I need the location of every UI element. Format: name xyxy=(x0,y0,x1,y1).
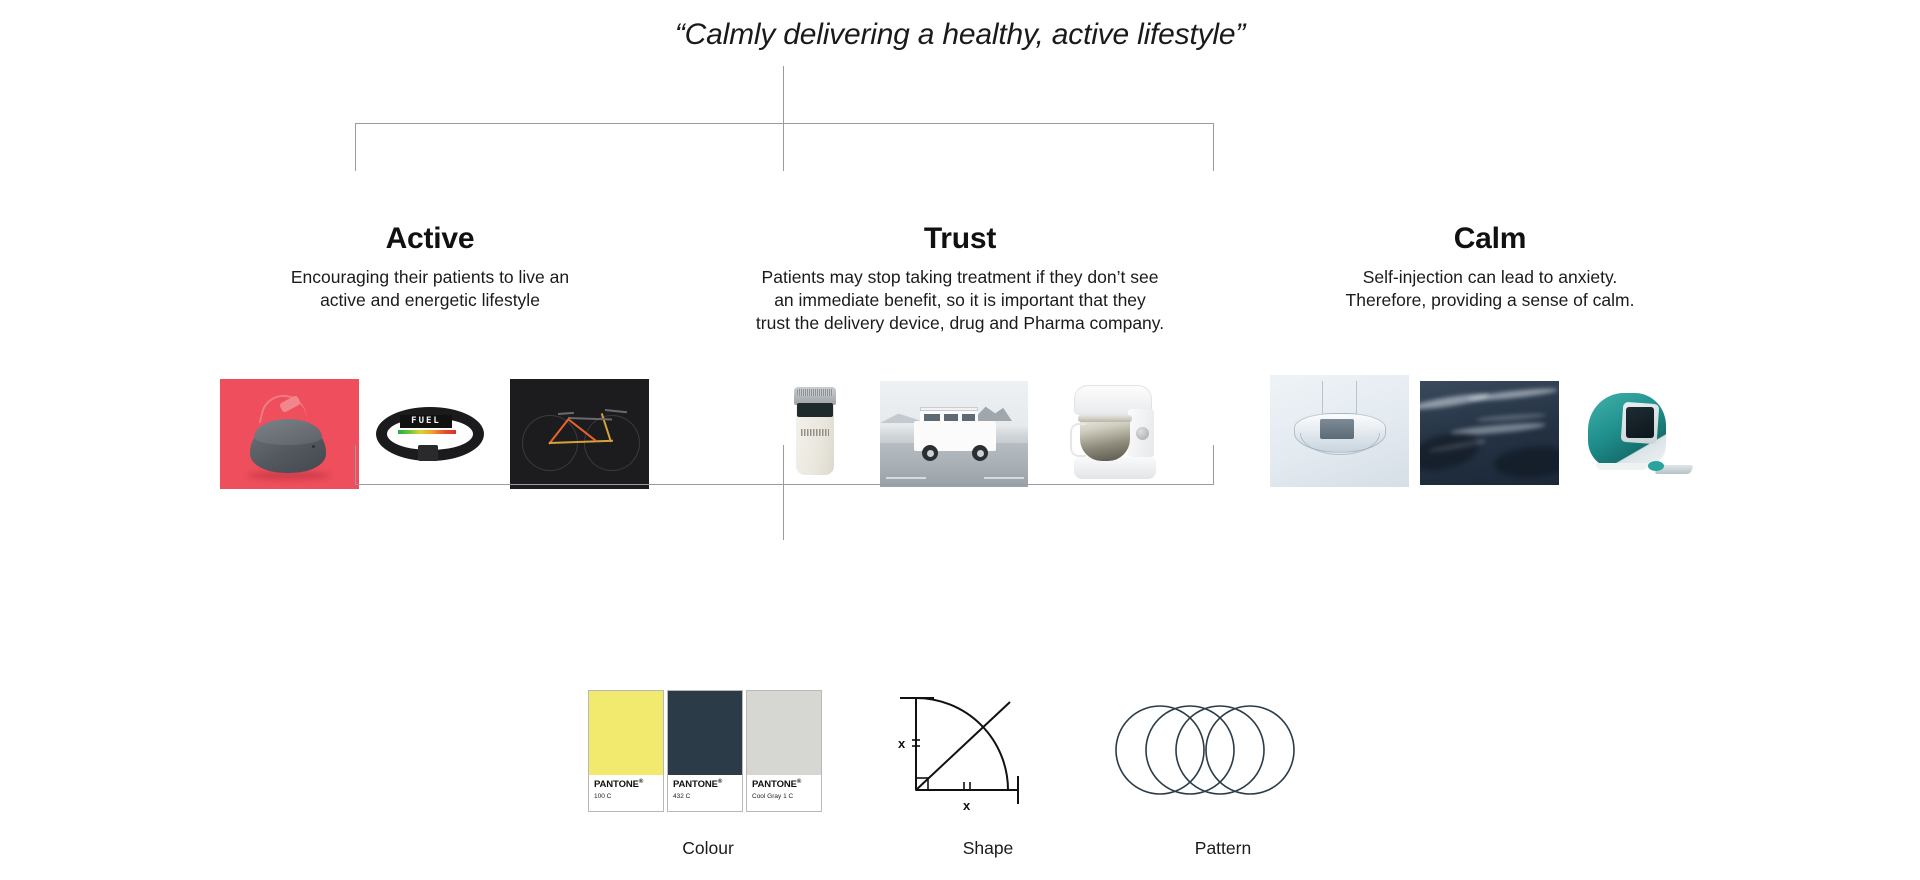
image-dark-bicycle xyxy=(510,379,649,489)
connector-bottom-stem xyxy=(783,445,784,540)
fuel-band-clasp xyxy=(418,445,438,461)
fuel-band-screen-text: FUEL xyxy=(411,417,441,426)
lamp-wire-left xyxy=(1322,381,1323,415)
water-highlight-1 xyxy=(1420,391,1490,412)
pantone-trademark: ® xyxy=(718,779,722,785)
pattern-circle-1 xyxy=(1116,706,1204,794)
image-nike-fuel-band: FUEL xyxy=(370,393,490,473)
speaker-top-face xyxy=(254,419,322,445)
pillar-calm-heading: Calm xyxy=(1210,222,1770,255)
shaver-trimmer-gap xyxy=(797,403,833,417)
pantone-swatch-100c xyxy=(589,691,663,775)
connector-drop-trust xyxy=(783,123,784,171)
connector-title-stem xyxy=(783,66,784,124)
shape-label-vertical: x xyxy=(898,736,906,751)
pattern-circle-3 xyxy=(1176,706,1264,794)
pantone-chip-text: PANTONE® Cool Gray 1 C xyxy=(747,775,821,811)
connector-drop-active xyxy=(355,123,356,171)
calm-image-strip xyxy=(1270,375,1700,485)
pillar-calm-description: Self-injection can lead to anxiety. Ther… xyxy=(1210,266,1770,312)
connector-top-bar xyxy=(355,123,1214,124)
pantone-brand-label: PANTONE® xyxy=(673,779,737,790)
bicycle-saddle xyxy=(558,412,574,415)
brand-strategy-board: “Calmly delivering a healthy, active lif… xyxy=(0,0,1920,879)
connector-riser-calm xyxy=(1213,445,1214,485)
defender-rear-wheel xyxy=(922,445,938,461)
mixer-speed-knob xyxy=(1136,427,1149,440)
defender-road-marking-1 xyxy=(886,477,926,479)
water-shadow-2 xyxy=(1493,444,1559,480)
speaker-button xyxy=(312,445,315,448)
image-pendant-lamp xyxy=(1270,375,1409,487)
pantone-brand-word: PANTONE xyxy=(752,779,797,790)
caption-shape: Shape xyxy=(888,838,1088,859)
bicycle-front-wheel xyxy=(584,415,640,471)
image-teal-imac xyxy=(1570,375,1700,487)
pantone-swatch-432c xyxy=(668,691,742,775)
pantone-chip-group: PANTONE® 100 C PANTONE® 432 C PANTONE® xyxy=(588,690,822,812)
pantone-brand-word: PANTONE xyxy=(673,779,718,790)
fuel-band-led-strip xyxy=(398,430,456,434)
caption-pattern: Pattern xyxy=(1108,838,1338,859)
pillar-trust-desc-line-3: trust the delivery device, drug and Phar… xyxy=(600,312,1320,335)
active-image-strip: FUEL xyxy=(220,375,650,485)
shaver-foil xyxy=(797,389,833,396)
mixer-bowl xyxy=(1080,417,1130,461)
image-white-defender xyxy=(880,381,1028,487)
mixer-bowl-rim xyxy=(1078,415,1132,422)
defender-front-hub xyxy=(977,450,984,457)
pantone-code: 432 C xyxy=(673,793,737,800)
pillar-calm-desc-line-1: Self-injection can lead to anxiety. xyxy=(1210,266,1770,289)
pantone-chip-text: PANTONE® 100 C xyxy=(589,775,663,811)
pillar-calm: Calm Self-injection can lead to anxiety.… xyxy=(1210,222,1770,312)
connector-riser-active xyxy=(355,445,356,485)
imac-mouse xyxy=(1648,461,1664,471)
water-highlight-2 xyxy=(1468,386,1558,402)
lamp-wire-right xyxy=(1356,381,1357,415)
lamp-lip xyxy=(1300,433,1380,455)
defender-rear-hub xyxy=(927,450,934,457)
mixer-bowl-handle xyxy=(1070,423,1086,457)
defender-front-wheel xyxy=(972,445,988,461)
pantone-swatch-cool-gray-1c xyxy=(747,691,821,775)
pantone-trademark: ® xyxy=(797,779,801,785)
imac-display xyxy=(1626,407,1654,438)
defender-road-marking-2 xyxy=(984,477,1024,479)
bicycle-top-tube xyxy=(568,417,612,421)
pantone-trademark: ® xyxy=(639,779,643,785)
pattern-circle-4 xyxy=(1206,706,1294,794)
shape-label-horizontal: x xyxy=(963,798,971,813)
water-highlight-5 xyxy=(1476,413,1546,423)
connector-drop-calm xyxy=(1213,123,1214,171)
pantone-chip: PANTONE® Cool Gray 1 C xyxy=(746,690,822,812)
shaver-brand-mark xyxy=(801,429,829,436)
mixer-base xyxy=(1074,457,1156,479)
pantone-code: Cool Gray 1 C xyxy=(752,793,816,800)
pantone-chip: PANTONE® 100 C xyxy=(588,690,664,812)
image-calm-water xyxy=(1420,381,1559,485)
element-pattern: Pattern xyxy=(1108,690,1338,820)
fuel-band-screen: FUEL xyxy=(400,415,452,428)
image-stand-mixer xyxy=(1050,375,1170,487)
bicycle-handlebar xyxy=(605,409,627,413)
pattern-diagram-icon xyxy=(1108,690,1338,820)
shape-diagram-icon: x x xyxy=(888,690,1088,820)
trust-image-strip xyxy=(770,375,1170,485)
connector-bottom-bar xyxy=(355,484,1214,485)
page-title: “Calmly delivering a healthy, active lif… xyxy=(0,18,1920,52)
pantone-brand-word: PANTONE xyxy=(594,779,639,790)
caption-colour: Colour xyxy=(588,838,828,859)
pantone-brand-label: PANTONE® xyxy=(752,779,816,790)
pantone-chip-text: PANTONE® 432 C xyxy=(668,775,742,811)
pillar-calm-desc-line-2: Therefore, providing a sense of calm. xyxy=(1210,289,1770,312)
pantone-chip: PANTONE® 432 C xyxy=(667,690,743,812)
pantone-code: 100 C xyxy=(594,793,658,800)
element-shape: x x Shape xyxy=(888,690,1088,820)
pattern-circle-2 xyxy=(1146,706,1234,794)
defender-mountain-right xyxy=(972,405,1012,421)
pantone-brand-label: PANTONE® xyxy=(594,779,658,790)
design-elements-row: PANTONE® 100 C PANTONE® 432 C PANTONE® xyxy=(0,690,1920,880)
imac-foot xyxy=(1596,463,1648,470)
image-coral-speaker xyxy=(220,379,359,489)
